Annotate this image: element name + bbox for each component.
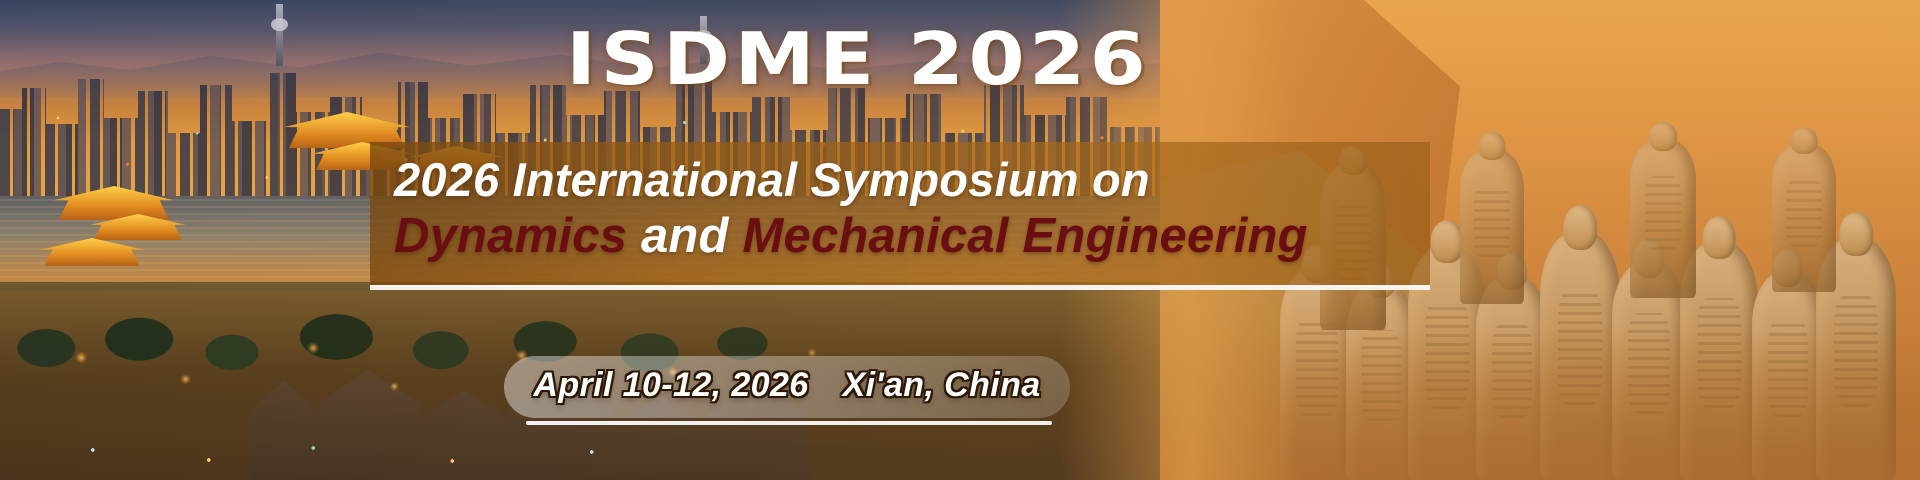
tv-tower-icon (276, 4, 283, 66)
road-light-specks (0, 430, 1160, 480)
date-location-ribbon: April 10-12, 2026Xi'an, China (504, 356, 1070, 418)
title-keyword-dynamics: Dynamics (394, 209, 627, 263)
conference-banner: ISDME2026 2026 International Symposium o… (0, 0, 1920, 480)
symposium-title-line2: Dynamics and Mechanical Engineering (394, 208, 1308, 264)
ribbon-text: April 10-12, 2026Xi'an, China (504, 366, 1070, 405)
conference-location: Xi'an, China (843, 366, 1041, 404)
terracotta-warrior (1772, 142, 1836, 292)
title-keyword-mechanical-engineering: Mechanical Engineering (742, 209, 1307, 263)
logo-acronym: ISDME (566, 17, 879, 101)
logo-year: 2026 (908, 17, 1150, 101)
symposium-title-line1: 2026 International Symposium on (394, 152, 1150, 207)
title-band: 2026 International Symposium on Dynamics… (370, 142, 1430, 290)
conference-dates: April 10-12, 2026 (533, 366, 808, 404)
terracotta-warrior (1460, 148, 1524, 304)
title-conjunction: and (641, 209, 729, 263)
conference-logotype: ISDME2026 (566, 22, 1150, 96)
terracotta-warrior (1630, 138, 1696, 298)
